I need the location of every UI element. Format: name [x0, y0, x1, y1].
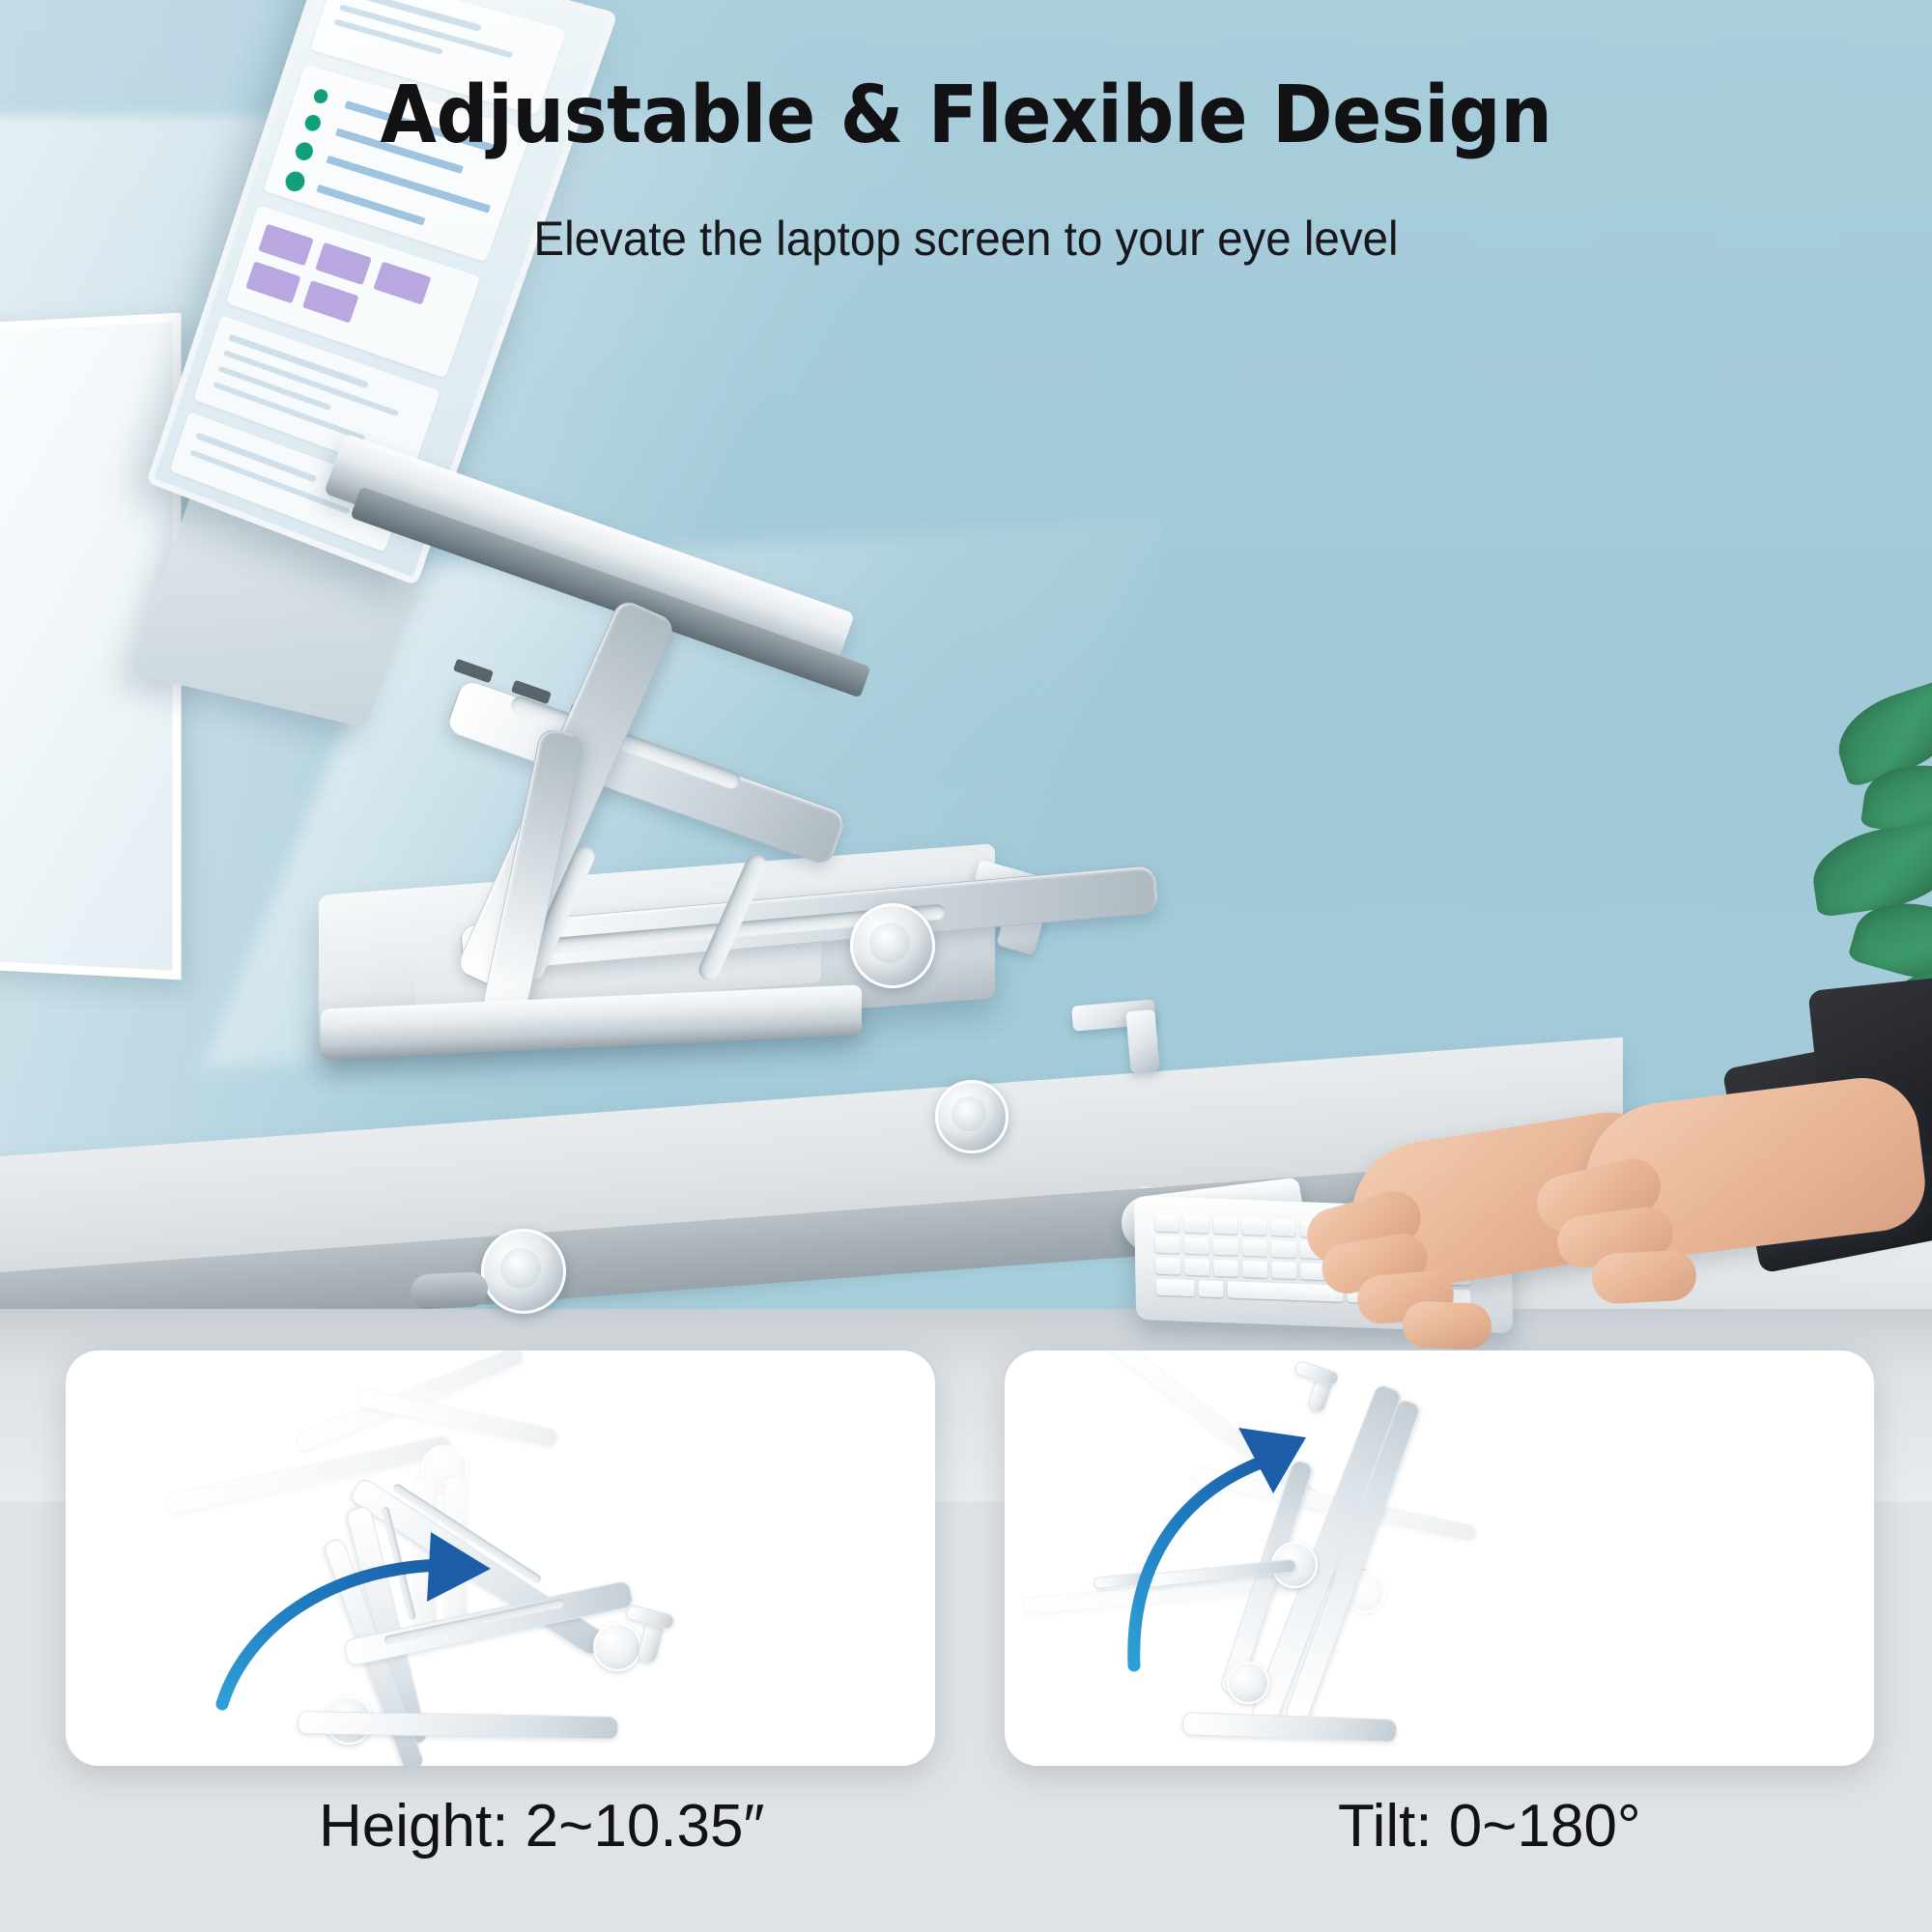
thumb	[1402, 1300, 1492, 1350]
inset-card-height	[66, 1350, 935, 1766]
inset-card-tilt	[1005, 1350, 1874, 1766]
caption-tilt: Tilt: 0~180°	[1338, 1792, 1641, 1861]
product-feature-graphic: Adjustable & Flexible Design Elevate the…	[0, 0, 1932, 1932]
finger	[1591, 1249, 1698, 1305]
stand-pivot-core-upper	[869, 923, 910, 963]
caption-height: Height: 2~10.35″	[319, 1792, 764, 1861]
stand-pivot-core-base	[500, 1248, 541, 1289]
page-subtitle: Elevate the laptop screen to your eye le…	[48, 211, 1884, 267]
height-adjust-arrow-icon	[201, 1524, 645, 1718]
stand-pivot-core-mid	[952, 1096, 986, 1131]
page-title: Adjustable & Flexible Design	[77, 70, 1855, 161]
stand-base-foot	[411, 1271, 488, 1310]
tilt-adjust-arrow-icon	[1101, 1389, 1410, 1679]
stand-lower-arm-hook	[1125, 1009, 1159, 1073]
